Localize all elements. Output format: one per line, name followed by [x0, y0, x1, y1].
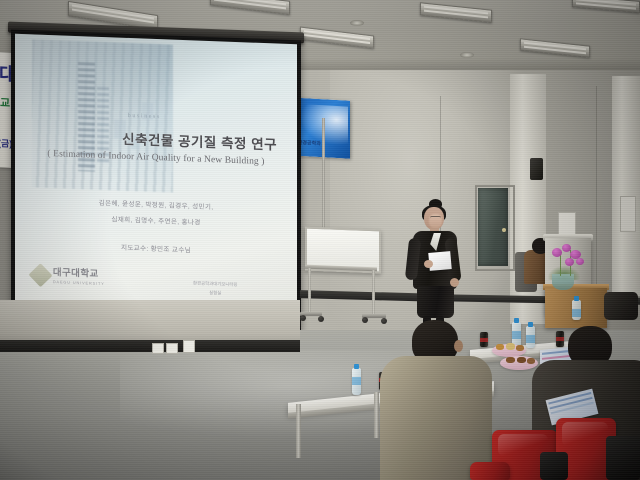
snack-item — [496, 344, 504, 350]
whiteboard-caster — [318, 316, 324, 322]
logo-diamond-icon — [28, 263, 52, 287]
whiteboard-leg — [372, 270, 375, 316]
screen-frame: business 신축건물 공기질 측정 연구 ( Estimation of … — [11, 30, 301, 331]
flower-vase — [552, 274, 574, 290]
wall-panel — [558, 212, 576, 236]
bottle-on-cabinet[interactable] — [572, 300, 581, 320]
orchid-bloom — [576, 258, 584, 265]
wall-seam — [596, 86, 597, 286]
table-leg — [296, 404, 301, 458]
presenter-glasses-icon — [430, 216, 441, 221]
auditorium-seat[interactable] — [470, 462, 510, 480]
wall-outlet[interactable] — [152, 343, 164, 354]
banner-pole — [322, 118, 325, 236]
orchid-bloom — [565, 258, 574, 266]
university-logo: 대구대학교 DAEGU UNIVERSITY — [32, 267, 105, 287]
wall-outlet[interactable] — [166, 343, 178, 354]
orchid-bloom — [552, 248, 562, 257]
wall-panel — [620, 196, 636, 232]
wall-outlet[interactable] — [183, 340, 195, 353]
water-bottle[interactable] — [352, 368, 361, 395]
bottle-label — [572, 309, 581, 317]
whiteboard-leg — [308, 268, 311, 314]
seat-highlight — [562, 422, 608, 446]
ceiling-downlight — [350, 20, 364, 26]
presenter-skirt — [417, 286, 454, 318]
projection-screen: business 신축건물 공기질 측정 연구 ( Estimation of … — [8, 27, 304, 319]
photo-scene: 대 교 (금) 발표회 표회 구대학교 환경공학과 business — [0, 0, 640, 480]
slide-advisor: 지도교수: 황민조 교수님 — [26, 238, 285, 258]
whiteboard-caster — [362, 317, 368, 323]
bag[interactable] — [604, 292, 638, 320]
slide-surface: business 신축건물 공기질 측정 연구 ( Estimation of … — [15, 34, 297, 313]
presenter-left-hand — [424, 260, 433, 268]
wall-speaker — [530, 158, 543, 180]
whiteboard-caster — [300, 315, 306, 321]
bottle-label — [352, 377, 361, 385]
door[interactable] — [478, 188, 508, 266]
stage-base-trim — [0, 340, 300, 352]
door-knob-icon[interactable] — [502, 228, 506, 232]
wall-pillar — [612, 76, 640, 296]
logo-english-name: DAEGU UNIVERSITY — [53, 280, 105, 286]
logo-korean-name: 대구대학교 — [53, 268, 105, 279]
slide-watermark-text: business — [128, 113, 161, 120]
seat-armrest — [606, 436, 640, 480]
orchid-bloom — [562, 244, 571, 252]
audience-ear — [454, 340, 463, 352]
seat-armrest — [540, 452, 568, 480]
audience-member-beige — [378, 320, 488, 480]
